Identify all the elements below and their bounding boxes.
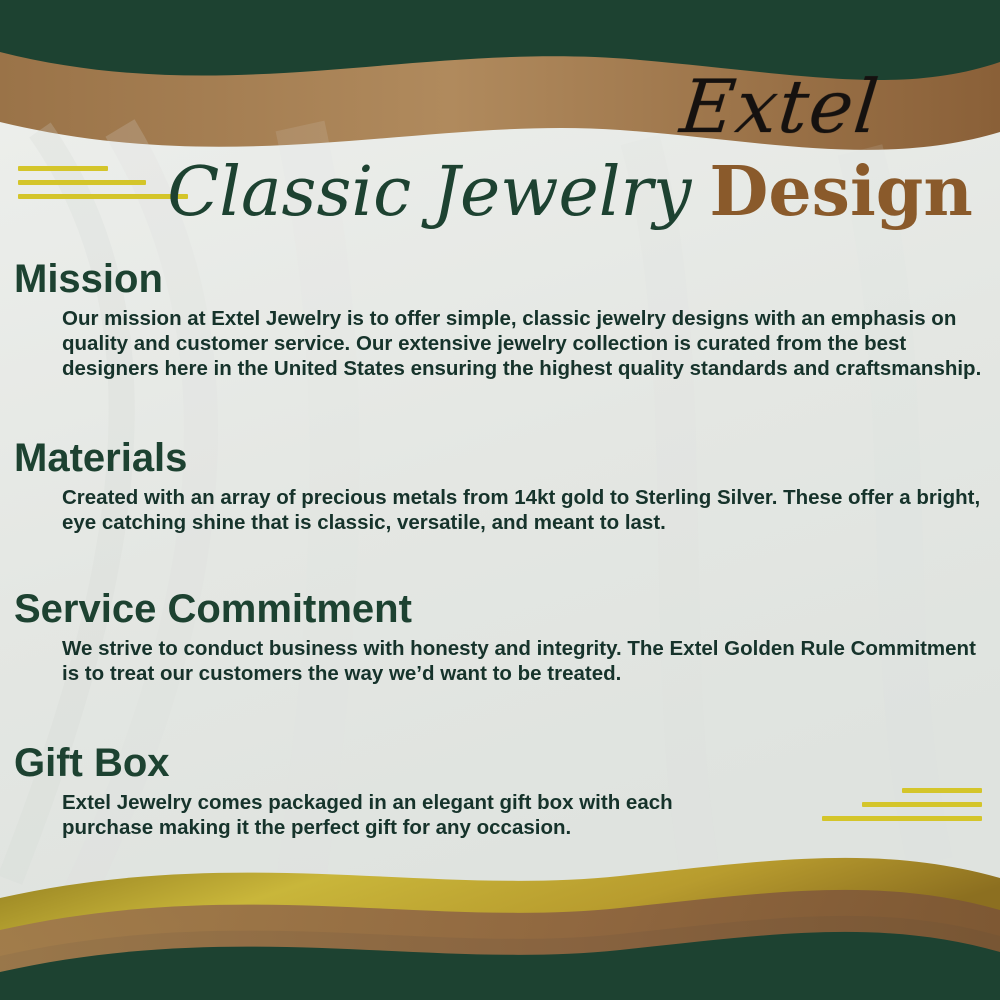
section-service-commitment: Service Commitment We strive to conduct … bbox=[14, 588, 984, 686]
decorative-line bbox=[862, 802, 982, 807]
section-heading: Service Commitment bbox=[14, 588, 984, 630]
section-body: Our mission at Extel Jewelry is to offer… bbox=[62, 306, 982, 381]
section-heading: Mission bbox=[14, 258, 984, 300]
section-mission: Mission Our mission at Extel Jewelry is … bbox=[14, 258, 984, 381]
decorative-line bbox=[902, 788, 982, 793]
title-secondary: Design bbox=[709, 152, 972, 232]
decorative-line bbox=[18, 180, 146, 185]
title-primary: Classic Jewelry bbox=[167, 153, 691, 232]
decorative-lines-bottom-right bbox=[822, 788, 982, 830]
section-body: Extel Jewelry comes packaged in an elega… bbox=[62, 790, 762, 840]
section-materials: Materials Created with an array of preci… bbox=[14, 437, 984, 535]
section-heading: Gift Box bbox=[14, 742, 984, 784]
section-body: Created with an array of precious metals… bbox=[62, 485, 982, 535]
poster-canvas: Extel Classic JewelryDesign Mission Our … bbox=[0, 0, 1000, 1000]
section-body: We strive to conduct business with hones… bbox=[62, 636, 982, 686]
brand-script-name: Extel bbox=[596, 70, 964, 144]
section-heading: Materials bbox=[14, 437, 984, 479]
decorative-line bbox=[18, 166, 108, 171]
poster-title: Classic JewelryDesign bbox=[160, 152, 980, 232]
decorative-line bbox=[822, 816, 982, 821]
